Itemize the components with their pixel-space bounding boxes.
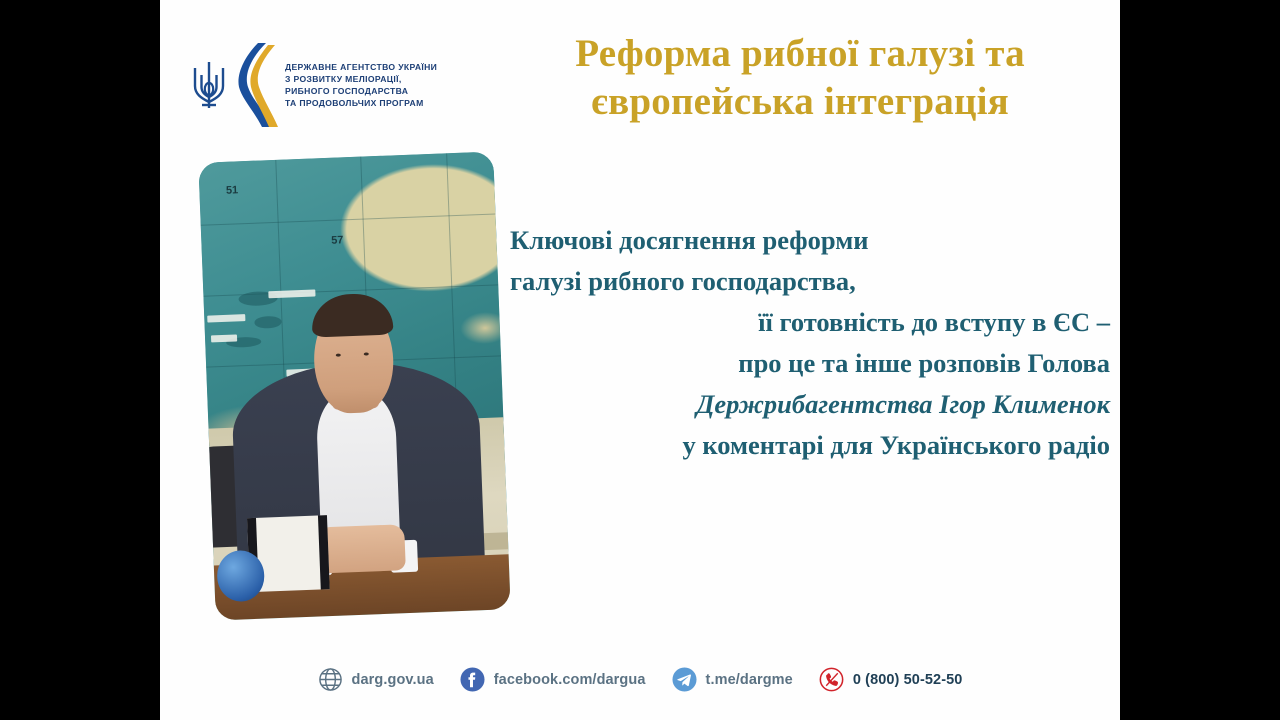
footer-telegram-label: t.me/dargme (706, 672, 793, 688)
map-number-51: 51 (226, 184, 239, 196)
footer-telegram[interactable]: t.me/dargme (672, 667, 793, 692)
speaker-photo-image: 51 57 (198, 152, 510, 621)
globe-icon (318, 667, 343, 692)
body-line-2: галузі рибного господарства, (510, 261, 1110, 302)
footer-facebook-label: facebook.com/dargua (494, 672, 646, 688)
agency-logo-text: ДЕРЖАВНЕ АГЕНТСТВО УКРАЇНИ З РОЗВИТКУ МЕ… (285, 61, 437, 110)
agency-logo: ДЕРЖАВНЕ АГЕНТСТВО УКРАЇНИ З РОЗВИТКУ МЕ… (188, 40, 488, 130)
footer-website[interactable]: darg.gov.ua (318, 667, 434, 692)
person-hands (316, 524, 406, 573)
body-line-6: у коментарі для Українського радіо (510, 425, 1110, 466)
body-line-3: її готовність до вступу в ЄС – (510, 302, 1110, 343)
body-line-5: Держрибагентства Ігор Клименок (510, 384, 1110, 425)
letterbox-right (1120, 0, 1280, 720)
logo-text-line-3: РИБНОГО ГОСПОДАРСТВА (285, 85, 437, 97)
slide-canvas: ДЕРЖАВНЕ АГЕНТСТВО УКРАЇНИ З РОЗВИТКУ МЕ… (160, 0, 1120, 720)
footer-phone[interactable]: 0 (800) 50-52-50 (819, 667, 963, 692)
slide-body-text: Ключові досягнення реформи галузі рибног… (510, 220, 1110, 466)
body-line-4: про це та інше розповів Голова (510, 343, 1110, 384)
footer-website-label: darg.gov.ua (352, 672, 434, 688)
letterbox-left (0, 0, 160, 720)
logo-text-line-2: З РОЗВИТКУ МЕЛІОРАЦІЇ, (285, 73, 437, 85)
ukraine-flag-ribbon-icon (238, 41, 278, 129)
map-number-57: 57 (331, 234, 344, 246)
slide-title: Реформа рибної галузі та європейська інт… (500, 30, 1100, 126)
ukraine-trident-icon (188, 56, 230, 114)
speaker-photo: 51 57 (198, 152, 510, 621)
contact-footer: darg.gov.ua facebook.com/dargua t.me/dar… (160, 667, 1120, 692)
slide-title-line-1: Реформа рибної галузі та (500, 30, 1100, 78)
footer-facebook[interactable]: facebook.com/dargua (460, 667, 646, 692)
body-line-1: Ключові досягнення реформи (510, 220, 1110, 261)
video-frame: ДЕРЖАВНЕ АГЕНТСТВО УКРАЇНИ З РОЗВИТКУ МЕ… (0, 0, 1280, 720)
logo-text-line-4: ТА ПРОДОВОЛЬЧИХ ПРОГРАМ (285, 97, 437, 109)
telegram-icon (672, 667, 697, 692)
logo-text-line-1: ДЕРЖАВНЕ АГЕНТСТВО УКРАЇНИ (285, 61, 437, 73)
facebook-icon (460, 667, 485, 692)
phone-icon (819, 667, 844, 692)
slide-title-line-2: європейська інтеграція (500, 78, 1100, 126)
footer-phone-label: 0 (800) 50-52-50 (853, 672, 963, 688)
